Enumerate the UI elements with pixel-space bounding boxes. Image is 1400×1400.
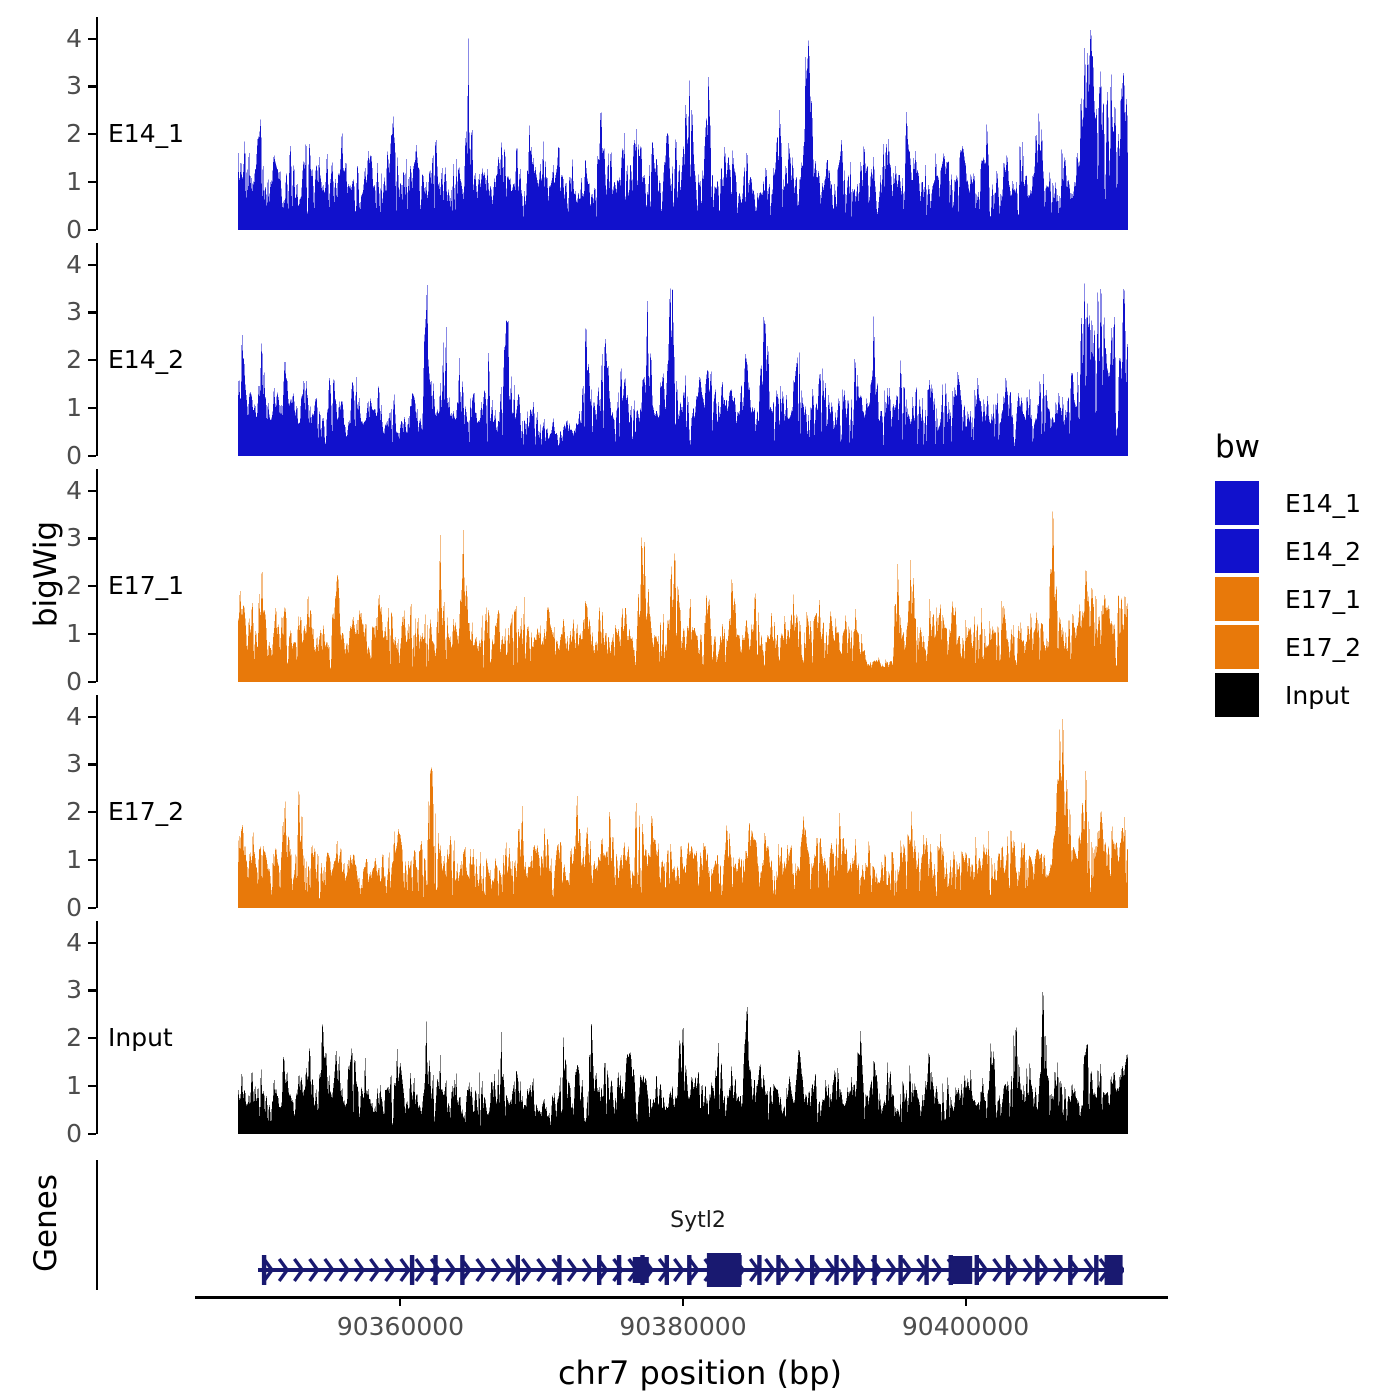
legend-swatch-input <box>1215 673 1259 717</box>
y-tick-label: 0 <box>42 895 82 920</box>
legend-label: E17_2 <box>1285 635 1361 660</box>
y-tick-label: 1 <box>42 169 82 194</box>
x-tick-label: 90360000 <box>280 1314 520 1339</box>
y-tick-mark <box>88 490 96 492</box>
y-tick-label: 0 <box>42 669 82 694</box>
y-tick-mark <box>88 133 96 135</box>
y-tick-label: 3 <box>42 751 82 776</box>
gene-model[interactable] <box>258 1160 1124 1290</box>
legend-label: Input <box>1285 683 1350 708</box>
x-tick-mark <box>965 1299 967 1306</box>
y-tick-label: 1 <box>42 621 82 646</box>
y-tick-mark <box>88 907 96 909</box>
coverage-area-e17_1[interactable] <box>238 469 1128 682</box>
y-tick-mark <box>88 633 96 635</box>
x-tick-mark <box>399 1299 401 1306</box>
y-tick-mark <box>88 85 96 87</box>
y-tick-label: 2 <box>42 121 82 146</box>
y-tick-mark <box>88 763 96 765</box>
x-tick-label: 90400000 <box>846 1314 1086 1339</box>
panel-sample-label: Input <box>108 1025 173 1050</box>
y-tick-label: 4 <box>42 930 82 955</box>
y-tick-label: 4 <box>42 252 82 277</box>
y-tick-mark <box>88 811 96 813</box>
coverage-panel-e14_2: 01234E14_2 <box>0 243 1400 456</box>
legend-items: E14_1E14_2E17_1E17_2Input <box>1215 479 1361 719</box>
panel-axis-line <box>96 243 98 456</box>
y-tick-mark <box>88 942 96 944</box>
coverage-panel-input: 01234Input <box>0 921 1400 1134</box>
legend-label: E17_1 <box>1285 587 1361 612</box>
y-tick-label: 1 <box>42 395 82 420</box>
legend-item-e17_2[interactable]: E17_2 <box>1215 623 1361 671</box>
y-tick-label: 2 <box>42 573 82 598</box>
panel-axis-line <box>96 17 98 230</box>
y-tick-label: 3 <box>42 299 82 324</box>
legend-swatch-e14_2 <box>1215 529 1259 573</box>
y-tick-label: 2 <box>42 1025 82 1050</box>
gene-track-panel: Sytl2 <box>0 1160 1400 1290</box>
y-tick-mark <box>88 407 96 409</box>
coverage-area-e14_2[interactable] <box>238 243 1128 456</box>
panel-sample-label: E14_1 <box>108 121 184 146</box>
x-axis-title: chr7 position (bp) <box>0 1354 1400 1392</box>
y-tick-label: 4 <box>42 26 82 51</box>
coverage-area-input[interactable] <box>238 921 1128 1134</box>
y-tick-mark <box>88 1037 96 1039</box>
y-tick-label: 0 <box>42 1121 82 1146</box>
y-tick-mark <box>88 585 96 587</box>
panel-sample-label: E17_2 <box>108 799 184 824</box>
coverage-panel-e17_2: 01234E17_2 <box>0 695 1400 908</box>
legend-title: bw <box>1215 432 1361 463</box>
y-tick-mark <box>88 716 96 718</box>
coverage-area-e14_1[interactable] <box>238 17 1128 230</box>
y-tick-mark <box>88 311 96 313</box>
y-tick-mark <box>88 38 96 40</box>
y-tick-label: 3 <box>42 977 82 1002</box>
y-tick-mark <box>88 455 96 457</box>
y-tick-mark <box>88 859 96 861</box>
y-tick-mark <box>88 264 96 266</box>
legend-item-e14_2[interactable]: E14_2 <box>1215 527 1361 575</box>
y-tick-label: 2 <box>42 799 82 824</box>
coverage-area-e17_2[interactable] <box>238 695 1128 908</box>
y-tick-mark <box>88 681 96 683</box>
legend-swatch-e14_1 <box>1215 481 1259 525</box>
coverage-panel-e14_1: 01234E14_1 <box>0 17 1400 230</box>
panel-axis-line <box>96 469 98 682</box>
y-tick-mark <box>88 229 96 231</box>
y-tick-label: 1 <box>42 847 82 872</box>
y-tick-label: 0 <box>42 443 82 468</box>
x-tick-mark <box>682 1299 684 1306</box>
y-tick-label: 4 <box>42 704 82 729</box>
y-tick-mark <box>88 181 96 183</box>
panel-sample-label: E14_2 <box>108 347 184 372</box>
legend-swatch-e17_2 <box>1215 625 1259 669</box>
y-tick-mark <box>88 1133 96 1135</box>
y-tick-mark <box>88 989 96 991</box>
y-tick-mark <box>88 1085 96 1087</box>
panel-axis-line <box>96 921 98 1134</box>
legend-label: E14_2 <box>1285 539 1361 564</box>
legend-item-input[interactable]: Input <box>1215 671 1361 719</box>
legend-swatch-e17_1 <box>1215 577 1259 621</box>
legend-label: E14_1 <box>1285 491 1361 516</box>
legend: bw E14_1E14_2E17_1E17_2Input <box>1215 432 1361 719</box>
y-tick-label: 0 <box>42 217 82 242</box>
y-tick-mark <box>88 359 96 361</box>
y-tick-mark <box>88 537 96 539</box>
gene-panel-axis-line <box>96 1160 98 1290</box>
coverage-panel-e17_1: 01234E17_1 <box>0 469 1400 682</box>
y-tick-label: 3 <box>42 73 82 98</box>
y-tick-label: 2 <box>42 347 82 372</box>
y-tick-label: 1 <box>42 1073 82 1098</box>
legend-item-e17_1[interactable]: E17_1 <box>1215 575 1361 623</box>
y-tick-label: 3 <box>42 525 82 550</box>
panel-sample-label: E17_1 <box>108 573 184 598</box>
y-tick-label: 4 <box>42 478 82 503</box>
x-tick-label: 90380000 <box>563 1314 803 1339</box>
panel-axis-line <box>96 695 98 908</box>
legend-item-e14_1[interactable]: E14_1 <box>1215 479 1361 527</box>
